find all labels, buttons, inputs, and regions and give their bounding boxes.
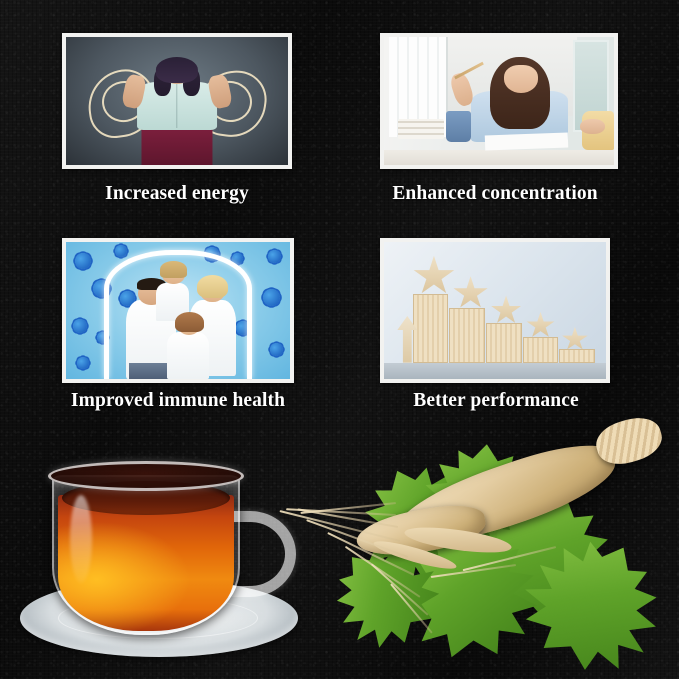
mother-hair (197, 275, 228, 298)
product-infographic: Increased energy Enhanced c (0, 0, 679, 679)
photo-increased-energy (66, 37, 288, 165)
woman-hand (580, 119, 605, 134)
virus-icon (73, 319, 87, 333)
benefit-photo-frame-2 (380, 33, 618, 169)
virus-icon (75, 253, 91, 269)
wood-block-step-2 (449, 308, 485, 363)
photo-enhanced-concentration (384, 37, 614, 165)
wood-block-step-3 (486, 323, 522, 363)
woman-hair (156, 57, 198, 83)
woman-skirt (141, 128, 212, 165)
woman-shirt (137, 82, 217, 131)
virus-icon (268, 250, 281, 263)
daughter-body (167, 332, 210, 379)
photo-better-performance (384, 242, 606, 379)
wood-block-step-4 (523, 337, 559, 363)
benefit-photo-frame-3 (62, 238, 294, 383)
teacup-rim (48, 461, 244, 491)
virus-icon (263, 289, 280, 306)
wood-block-step-1 (413, 294, 449, 363)
paper-sheet (485, 133, 568, 151)
teacup-glass-highlight (70, 495, 92, 583)
hero-tea-and-ginseng (0, 414, 679, 679)
benefit-caption-improved-immune-health: Improved immune health (46, 390, 310, 412)
photo-improved-immune-health (66, 242, 290, 379)
benefit-caption-better-performance: Better performance (386, 390, 606, 412)
benefit-photo-frame-4 (380, 238, 610, 383)
desk-surface (384, 150, 614, 165)
table-surface (384, 363, 606, 379)
blue-mug (446, 111, 471, 142)
benefit-caption-increased-energy: Increased energy (62, 183, 292, 205)
daughter-hair (175, 312, 204, 333)
stack-of-books (398, 119, 444, 139)
wood-block-step-5 (559, 349, 595, 363)
child-hair (160, 261, 187, 277)
benefit-photo-frame-1 (62, 33, 292, 169)
benefit-caption-enhanced-concentration: Enhanced concentration (370, 183, 620, 205)
virus-icon (115, 245, 127, 257)
